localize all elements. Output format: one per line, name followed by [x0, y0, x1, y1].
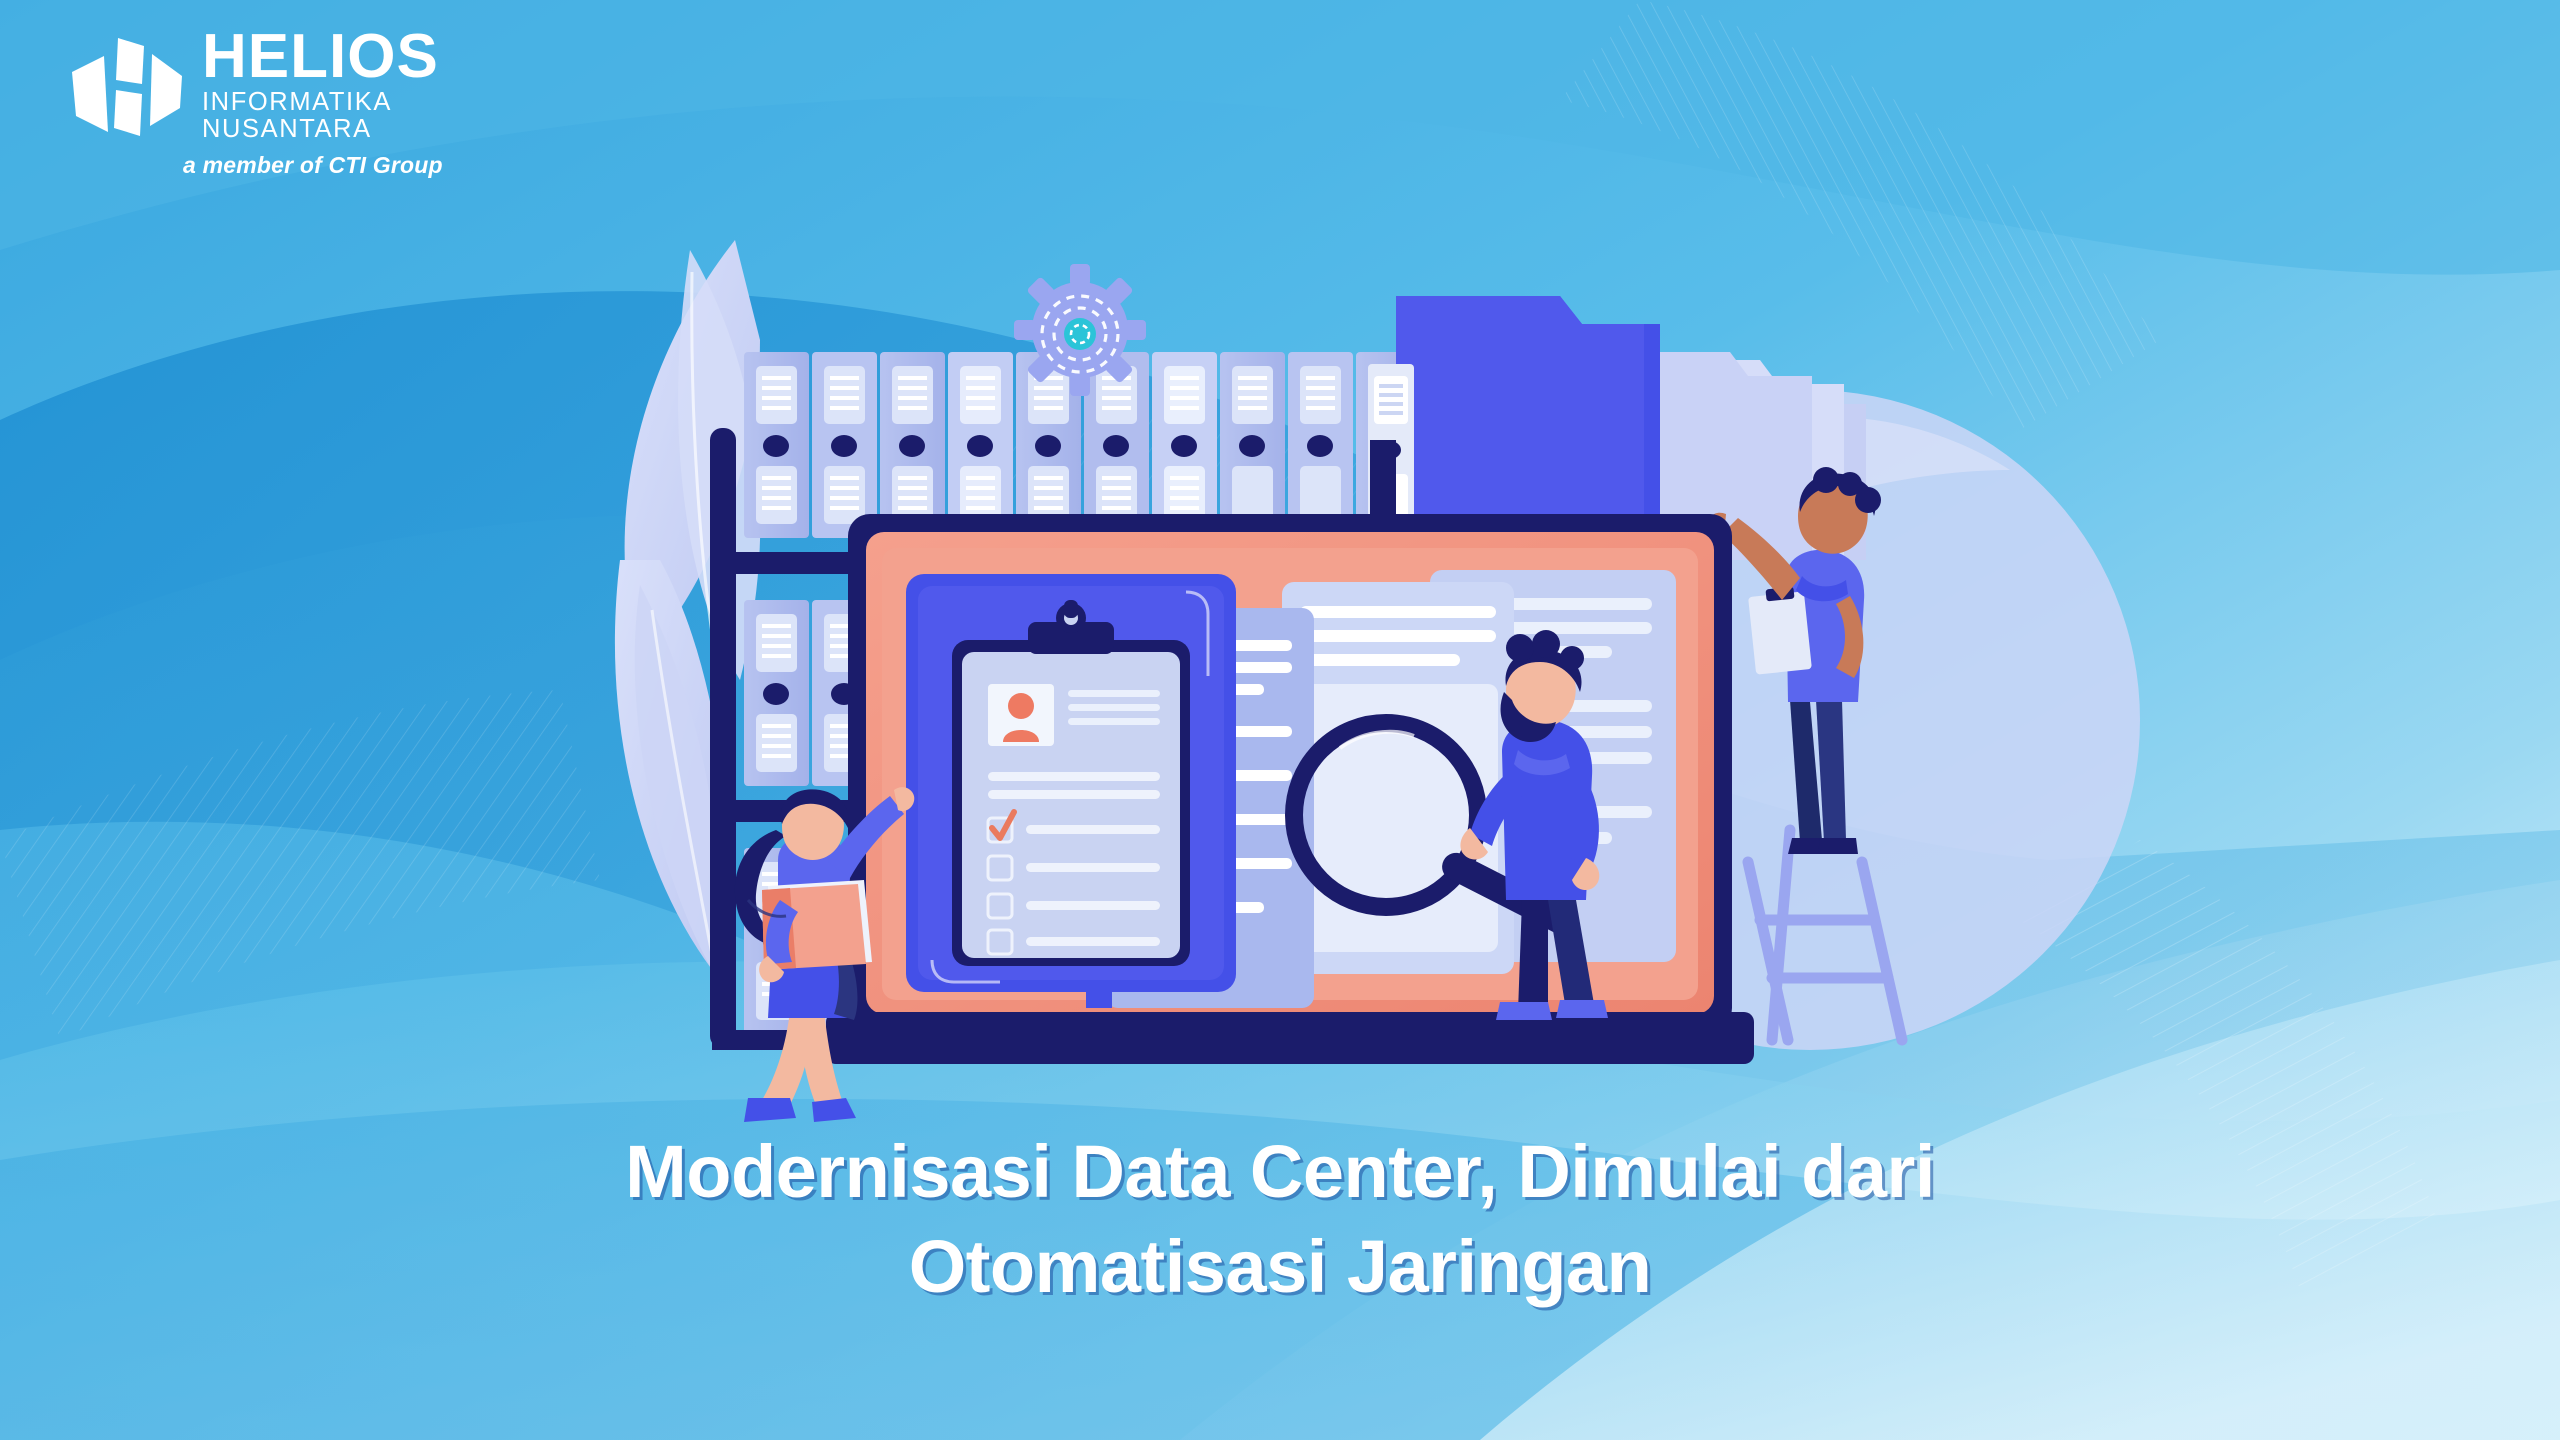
- banner-canvas: HELIOS INFORMATIKA NUSANTARA a member of…: [0, 0, 2560, 1440]
- logo-member-tagline: a member of CTI Group: [183, 152, 443, 179]
- helios-h-mark-icon: [68, 32, 188, 142]
- logo-wordmark: HELIOS: [202, 28, 472, 85]
- logo-subtitle-line2: NUSANTARA: [202, 116, 472, 143]
- title-line-1: Modernisasi Data Center, Dimulai dari: [0, 1125, 2560, 1220]
- brand-logo[interactable]: HELIOS INFORMATIKA NUSANTARA a member of…: [68, 28, 468, 173]
- logo-subtitle-line1: INFORMATIKA: [202, 89, 472, 116]
- page-title: Modernisasi Data Center, Dimulai dari Ot…: [0, 1125, 2560, 1314]
- title-line-2: Otomatisasi Jaringan: [0, 1220, 2560, 1315]
